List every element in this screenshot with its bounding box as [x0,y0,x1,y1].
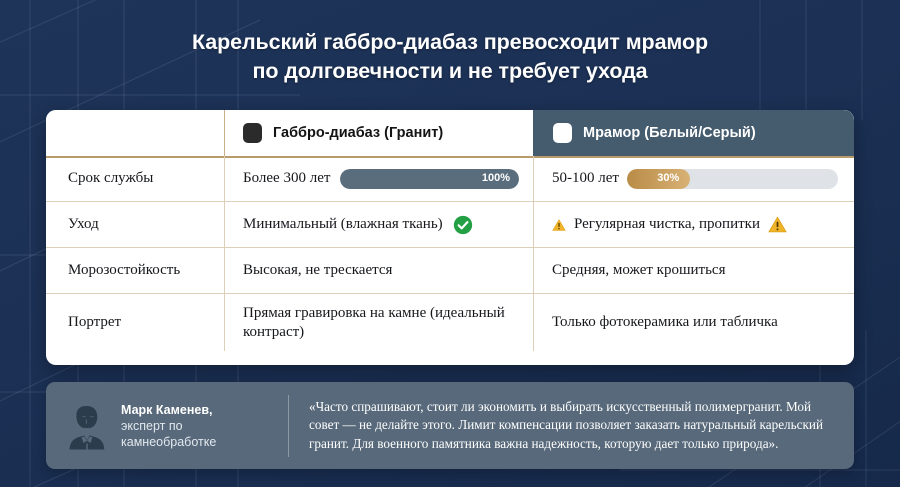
marble-lifespan-bar-track: 30% [627,169,838,189]
expert-role-line-1: эксперт по [121,418,216,434]
row-cell-marble: Регулярная чистка, пропитки [533,202,854,247]
marble-lifespan-text: 50-100 лет [552,169,619,188]
check-circle-icon [453,215,473,235]
row-cell-marble: 50-100 лет 30% [533,156,854,201]
row-cell-granite: Прямая гравировка на камне (идеальный ко… [224,294,533,351]
granite-lifespan-bar-fill: 100% [340,169,519,189]
warning-triangle-icon [552,218,566,232]
row-cell-granite: Более 300 лет 100% [224,156,533,201]
white-square-icon [553,123,572,143]
granite-portrait-text: Прямая гравировка на камне (идеальный ко… [243,304,519,342]
table-header-column-granite: Габбро-диабаз (Гранит) [224,110,533,156]
expert-quote-panel: Марк Каменев, эксперт по камнеобработке … [46,382,854,469]
table-row: Морозостойкость Высокая, не трескается С… [46,248,854,294]
row-feature-label: Портрет [46,305,224,340]
page-title-line-2: по долговечности и не требует ухода [0,57,900,86]
row-cell-marble: Только фотокерамика или табличка [533,294,854,351]
column-label-granite: Габбро-диабаз (Гранит) [273,125,443,141]
row-cell-granite: Минимальный (влажная ткань) [224,202,533,247]
expert-quote-text: «Часто спрашивают, стоит ли экономить и … [309,398,836,454]
page-title-line-1: Карельский габбро-диабаз превосходит мра… [0,28,900,57]
marble-frost-text: Средняя, может крошиться [552,261,726,280]
granite-lifespan-bar-track: 100% [340,169,519,189]
table-row: Срок службы Более 300 лет 100% 50-100 ле… [46,156,854,202]
warning-triangle-icon [768,215,787,234]
table-header: Габбро-диабаз (Гранит) Мрамор (Белый/Сер… [46,110,854,156]
granite-frost-text: Высокая, не трескается [243,261,392,280]
row-cell-marble: Средняя, может крошиться [533,248,854,293]
column-label-marble: Мрамор (Белый/Серый) [583,125,756,141]
granite-lifespan-bar-value: 100% [482,169,510,188]
page-title: Карельский габбро-диабаз превосходит мра… [0,28,900,86]
row-feature-label: Морозостойкость [46,253,224,288]
marble-care-text: Регулярная чистка, пропитки [574,215,760,234]
table-row: Уход Минимальный (влажная ткань) Регуляр… [46,202,854,248]
granite-lifespan-text: Более 300 лет [243,169,330,188]
table-row: Портрет Прямая гравировка на камне (идеа… [46,294,854,351]
table-header-column-marble: Мрамор (Белый/Серый) [533,110,854,156]
expert-name: Марк Каменев, [121,402,216,418]
marble-lifespan-bar-fill: 30% [627,169,690,189]
expert-role-line-2: камнеобработке [121,434,216,450]
row-cell-granite: Высокая, не трескается [224,248,533,293]
dark-square-icon [243,123,262,143]
comparison-card: Габбро-диабаз (Гранит) Мрамор (Белый/Сер… [46,110,854,365]
expert-name-block: Марк Каменев, эксперт по камнеобработке [121,402,216,450]
row-feature-label: Уход [46,207,224,242]
quote-divider [288,395,289,457]
expert-identity: Марк Каменев, эксперт по камнеобработке [64,399,286,453]
granite-care-text: Минимальный (влажная ткань) [243,215,443,234]
table-body: Срок службы Более 300 лет 100% 50-100 ле… [46,156,854,351]
expert-portrait-avatar [64,399,110,453]
marble-lifespan-bar-value: 30% [657,169,681,188]
marble-portrait-text: Только фотокерамика или табличка [552,313,778,332]
row-feature-label: Срок службы [46,161,224,196]
